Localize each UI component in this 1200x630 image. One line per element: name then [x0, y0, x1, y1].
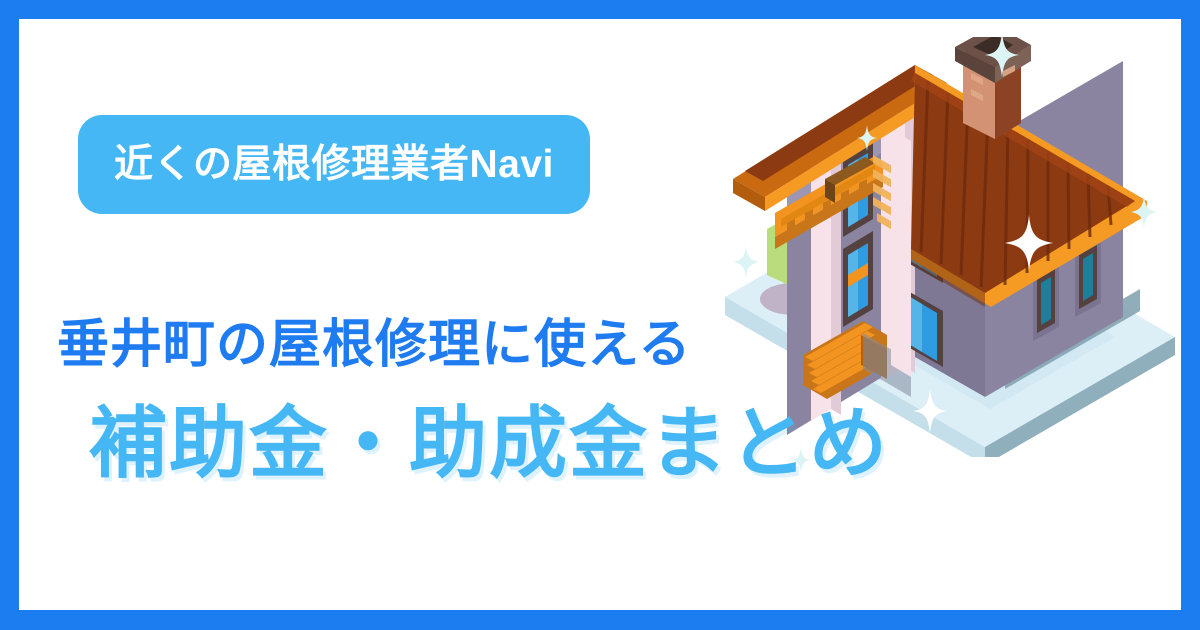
headline-line-2: 補助金・助成金まとめ — [89, 404, 889, 482]
chimney — [955, 37, 1031, 139]
headline-line-1: 垂井町の屋根修理に使える — [57, 319, 691, 371]
isometric-house-illustration — [715, 37, 1181, 457]
card-inner-canvas: 近くの屋根修理業者Navi 垂井町の屋根修理に使える 補助金・助成金まとめ — [19, 19, 1181, 610]
site-name-badge[interactable]: 近くの屋根修理業者Navi — [78, 115, 590, 214]
site-name-badge-label: 近くの屋根修理業者Navi — [114, 145, 554, 184]
ogp-card: 近くの屋根修理業者Navi 垂井町の屋根修理に使える 補助金・助成金まとめ — [0, 0, 1200, 630]
